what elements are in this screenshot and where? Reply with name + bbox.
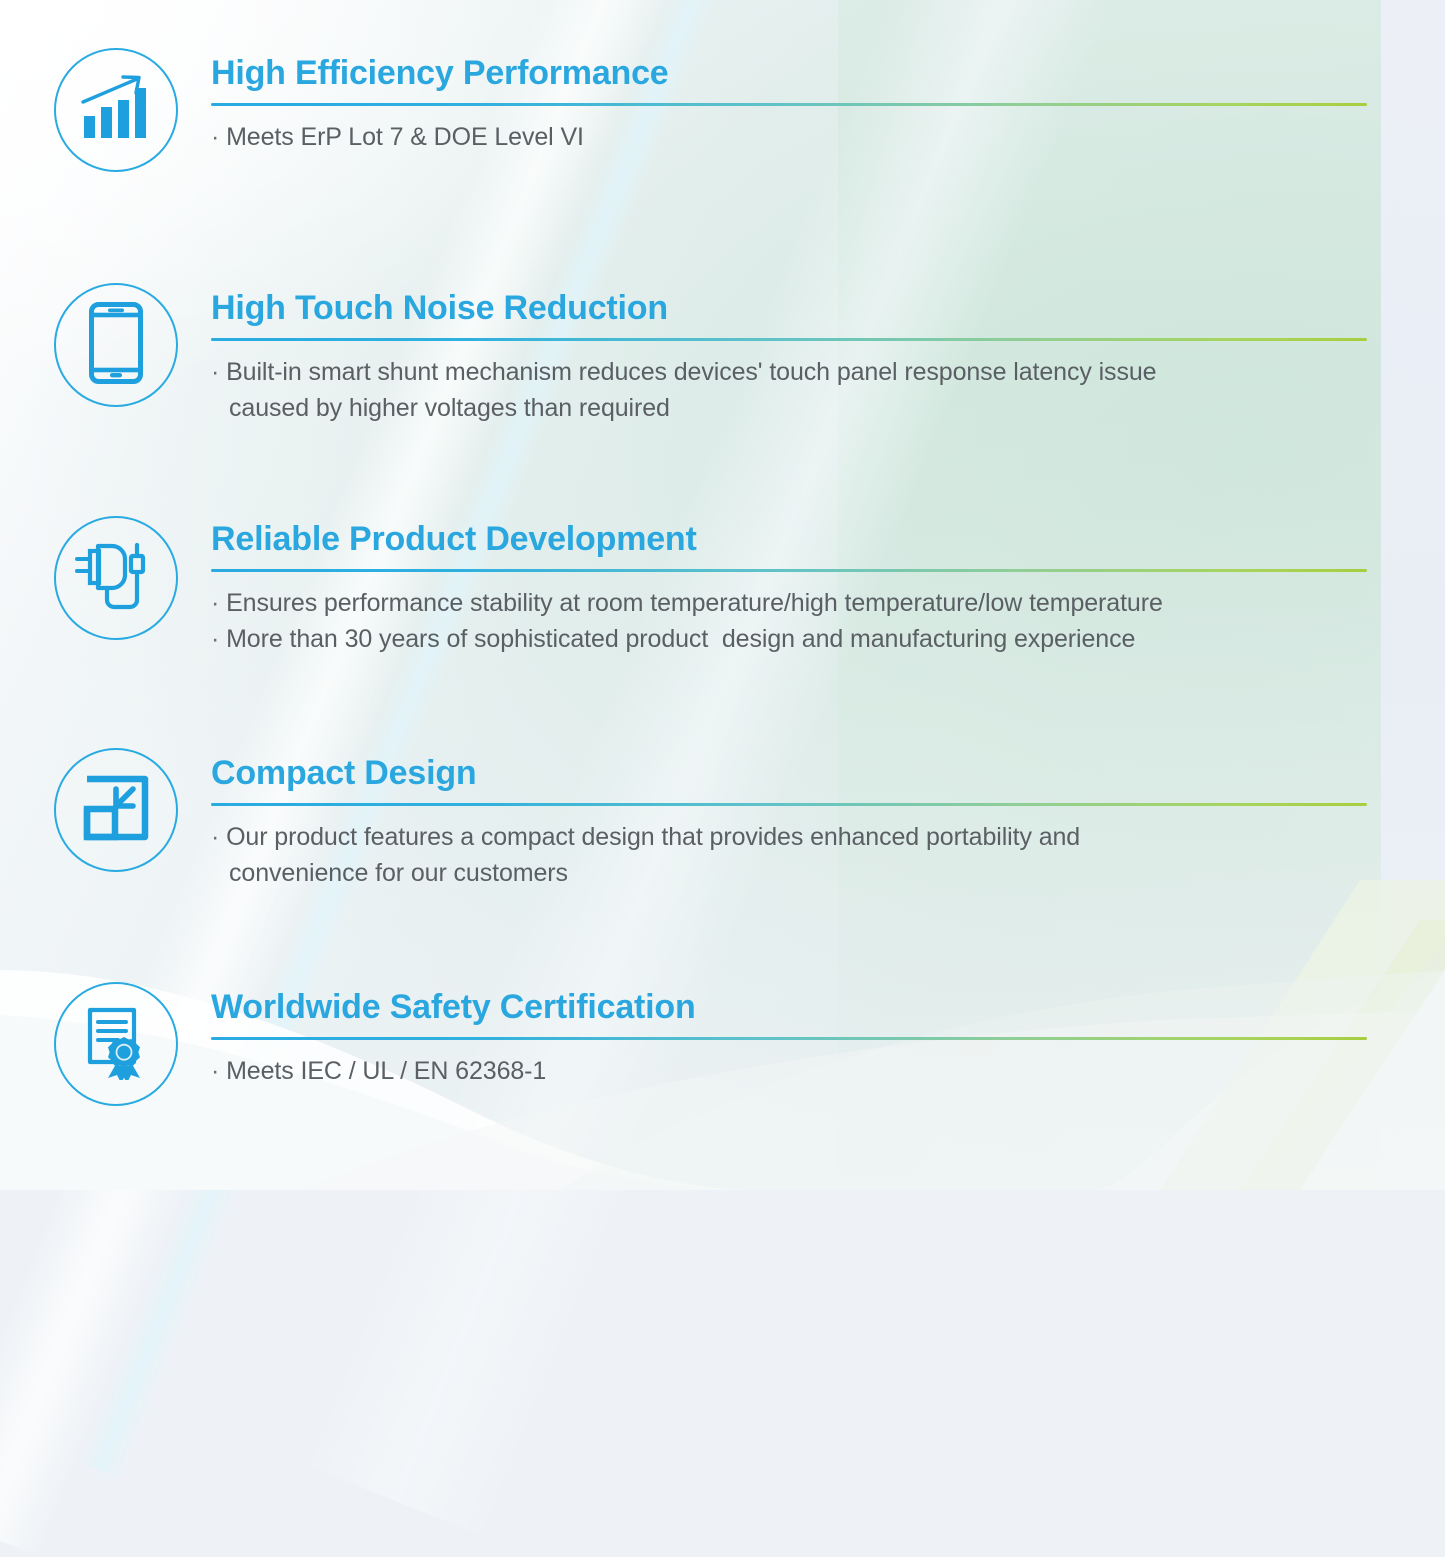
feature-title: Compact Design — [211, 754, 1367, 792]
bullet-marker: · — [211, 358, 226, 386]
feature-title: Reliable Product Development — [211, 520, 1367, 558]
feature-divider — [211, 569, 1367, 572]
feature-row: Compact Design · Our product features a … — [54, 748, 1367, 891]
feature-bullet: · Meets ErP Lot 7 & DOE Level VI — [211, 120, 1367, 156]
feature-row: Reliable Product Development · Ensures p… — [54, 516, 1367, 657]
bullet-marker: · — [211, 1057, 226, 1085]
feature-icon-badge — [54, 48, 178, 172]
smartphone-icon — [89, 302, 143, 389]
feature-bullet: caused by higher voltages than required — [211, 391, 1367, 427]
feature-row: High Efficiency Performance · Meets ErP … — [54, 48, 1367, 172]
power-adapter-icon — [74, 539, 158, 618]
bullet-text: caused by higher voltages than required — [229, 394, 670, 422]
certificate-icon — [80, 1004, 152, 1085]
feature-row: High Touch Noise Reduction · Built-in sm… — [54, 283, 1367, 426]
feature-row: Worldwide Safety Certification · Meets I… — [54, 982, 1367, 1106]
feature-icon-badge — [54, 748, 178, 872]
bullet-text: More than 30 years of sophisticated prod… — [226, 625, 1135, 653]
growth-chart-icon — [80, 74, 152, 147]
feature-title: Worldwide Safety Certification — [211, 988, 1367, 1026]
bullet-marker: · — [211, 589, 226, 617]
feature-divider — [211, 803, 1367, 806]
feature-title: High Touch Noise Reduction — [211, 289, 1367, 327]
feature-icon-badge — [54, 516, 178, 640]
bullet-text: Ensures performance stability at room te… — [226, 589, 1163, 617]
feature-body: Compact Design · Our product features a … — [211, 748, 1367, 891]
bullet-marker: · — [211, 625, 226, 653]
bullet-text: Built-in smart shunt mechanism reduces d… — [226, 358, 1156, 386]
feature-bullet: · Our product features a compact design … — [211, 820, 1367, 856]
feature-body: High Efficiency Performance · Meets ErP … — [211, 48, 1367, 156]
bullet-marker: · — [211, 123, 226, 151]
feature-icon-badge — [54, 283, 178, 407]
feature-divider — [211, 338, 1367, 341]
feature-bullet: · More than 30 years of sophisticated pr… — [211, 622, 1367, 658]
bullet-text: Meets IEC / UL / EN 62368-1 — [226, 1057, 546, 1085]
feature-title: High Efficiency Performance — [211, 54, 1367, 92]
feature-icon-badge — [54, 982, 178, 1106]
bullet-text: convenience for our customers — [229, 859, 568, 887]
feature-bullet: · Built-in smart shunt mechanism reduces… — [211, 355, 1367, 391]
feature-bullet: · Ensures performance stability at room … — [211, 586, 1367, 622]
compact-resize-icon — [81, 773, 151, 848]
feature-body: High Touch Noise Reduction · Built-in sm… — [211, 283, 1367, 426]
feature-body: Reliable Product Development · Ensures p… — [211, 516, 1367, 657]
feature-divider — [211, 1037, 1367, 1040]
bullet-marker: · — [211, 823, 226, 851]
bullet-text: Meets ErP Lot 7 & DOE Level VI — [226, 123, 584, 151]
feature-bullet: · Meets IEC / UL / EN 62368-1 — [211, 1054, 1367, 1090]
bullet-text: Our product features a compact design th… — [226, 823, 1080, 851]
feature-bullet: convenience for our customers — [211, 856, 1367, 892]
feature-body: Worldwide Safety Certification · Meets I… — [211, 982, 1367, 1090]
feature-divider — [211, 103, 1367, 106]
